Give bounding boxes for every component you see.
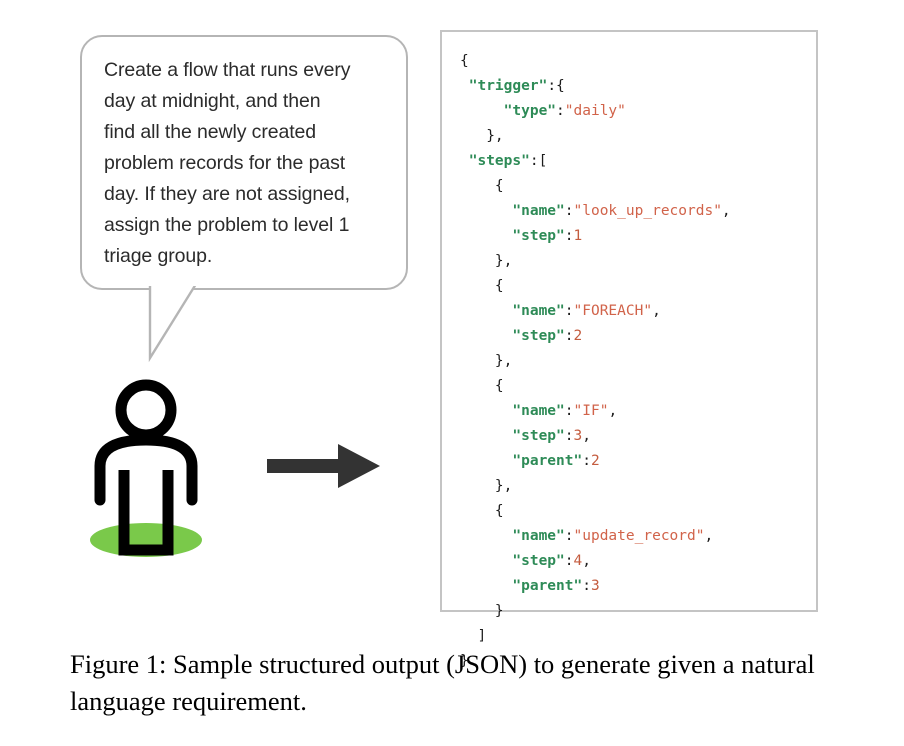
- code-token: "name": [512, 528, 564, 544]
- code-token: [460, 553, 512, 569]
- arrow-shape: [267, 444, 380, 488]
- code-line: {: [460, 49, 731, 74]
- code-token: [460, 428, 512, 444]
- code-line: "step":2: [460, 324, 731, 349]
- code-token: :: [582, 578, 591, 594]
- code-line: {: [460, 374, 731, 399]
- code-token: ,: [582, 553, 591, 569]
- code-token: "name": [512, 303, 564, 319]
- code-line: "step":4,: [460, 549, 731, 574]
- code-token: "FOREACH": [574, 303, 653, 319]
- tail-mask: [148, 282, 198, 286]
- figure-illustration: Create a flow that runs every day at mid…: [0, 0, 904, 632]
- code-token: 4: [574, 553, 583, 569]
- code-token: 1: [574, 228, 583, 244]
- code-line: "name":"look_up_records",: [460, 199, 731, 224]
- code-token: "type": [504, 103, 556, 119]
- code-line: },: [460, 349, 731, 374]
- code-token: ,: [652, 303, 661, 319]
- code-token: 3: [591, 578, 600, 594]
- code-token: [460, 103, 504, 119]
- code-token: :: [565, 403, 574, 419]
- code-line: },: [460, 474, 731, 499]
- code-token: "step": [512, 328, 564, 344]
- code-token: "name": [512, 403, 564, 419]
- code-line: "parent":3: [460, 574, 731, 599]
- code-line: "name":"update_record",: [460, 524, 731, 549]
- code-token: {: [460, 503, 504, 519]
- code-token: "IF": [574, 403, 609, 419]
- code-token: ,: [582, 428, 591, 444]
- code-token: {: [460, 278, 504, 294]
- code-token: },: [460, 353, 512, 369]
- code-token: [460, 153, 469, 169]
- code-line: {: [460, 274, 731, 299]
- code-line: },: [460, 124, 731, 149]
- code-line: "type":"daily": [460, 99, 731, 124]
- code-line: },: [460, 249, 731, 274]
- code-token: :: [582, 453, 591, 469]
- code-token: },: [460, 128, 504, 144]
- person-icon: [78, 378, 214, 560]
- code-token: {: [460, 378, 504, 394]
- code-line: "parent":2: [460, 449, 731, 474]
- code-token: :{: [547, 78, 564, 94]
- code-token: [460, 453, 512, 469]
- code-token: "name": [512, 203, 564, 219]
- figure-caption: Figure 1: Sample structured output (JSON…: [70, 646, 870, 720]
- code-token: [460, 78, 469, 94]
- code-token: {: [460, 53, 469, 69]
- speech-bubble-tail: [140, 282, 210, 367]
- speech-bubble: Create a flow that runs every day at mid…: [80, 35, 408, 290]
- code-line: "name":"IF",: [460, 399, 731, 424]
- code-line: {: [460, 174, 731, 199]
- code-token: "trigger": [469, 78, 548, 94]
- code-token: }: [460, 603, 504, 619]
- code-line: "name":"FOREACH",: [460, 299, 731, 324]
- code-token: "look_up_records": [574, 203, 722, 219]
- code-token: :: [565, 553, 574, 569]
- code-token: [460, 528, 512, 544]
- code-token: 2: [574, 328, 583, 344]
- code-line: }: [460, 599, 731, 624]
- code-token: "update_record": [574, 528, 705, 544]
- code-token: [460, 328, 512, 344]
- tail-shape: [150, 284, 196, 358]
- code-token: [460, 228, 512, 244]
- speech-bubble-text: Create a flow that runs every day at mid…: [104, 55, 388, 272]
- code-token: "step": [512, 553, 564, 569]
- code-token: ,: [704, 528, 713, 544]
- code-token: "parent": [512, 453, 582, 469]
- code-token: "parent": [512, 578, 582, 594]
- code-token: ,: [608, 403, 617, 419]
- code-line: {: [460, 499, 731, 524]
- code-token: :[: [530, 153, 547, 169]
- code-token: 2: [591, 453, 600, 469]
- code-token: 3: [574, 428, 583, 444]
- code-token: "step": [512, 428, 564, 444]
- code-token: "daily": [565, 103, 626, 119]
- code-token: [460, 303, 512, 319]
- code-token: "step": [512, 228, 564, 244]
- code-token: [460, 403, 512, 419]
- code-line: "trigger":{: [460, 74, 731, 99]
- code-token: :: [565, 428, 574, 444]
- code-token: :: [556, 103, 565, 119]
- code-token: },: [460, 478, 512, 494]
- code-token: "steps": [469, 153, 530, 169]
- json-code-block: { "trigger":{ "type":"daily" }, "steps":…: [460, 49, 731, 674]
- code-line: "steps":[: [460, 149, 731, 174]
- right-arrow-icon: [262, 436, 386, 496]
- code-token: :: [565, 528, 574, 544]
- code-token: :: [565, 228, 574, 244]
- code-token: {: [460, 178, 504, 194]
- person-arms: [100, 440, 192, 500]
- person-head: [121, 385, 171, 435]
- code-token: [460, 203, 512, 219]
- code-line: "step":1: [460, 224, 731, 249]
- code-token: :: [565, 328, 574, 344]
- code-token: :: [565, 303, 574, 319]
- code-token: :: [565, 203, 574, 219]
- code-token: },: [460, 253, 512, 269]
- code-token: [460, 578, 512, 594]
- code-token: ,: [722, 203, 731, 219]
- code-line: "step":3,: [460, 424, 731, 449]
- json-code-panel: { "trigger":{ "type":"daily" }, "steps":…: [440, 30, 818, 612]
- code-token: ]: [460, 628, 486, 644]
